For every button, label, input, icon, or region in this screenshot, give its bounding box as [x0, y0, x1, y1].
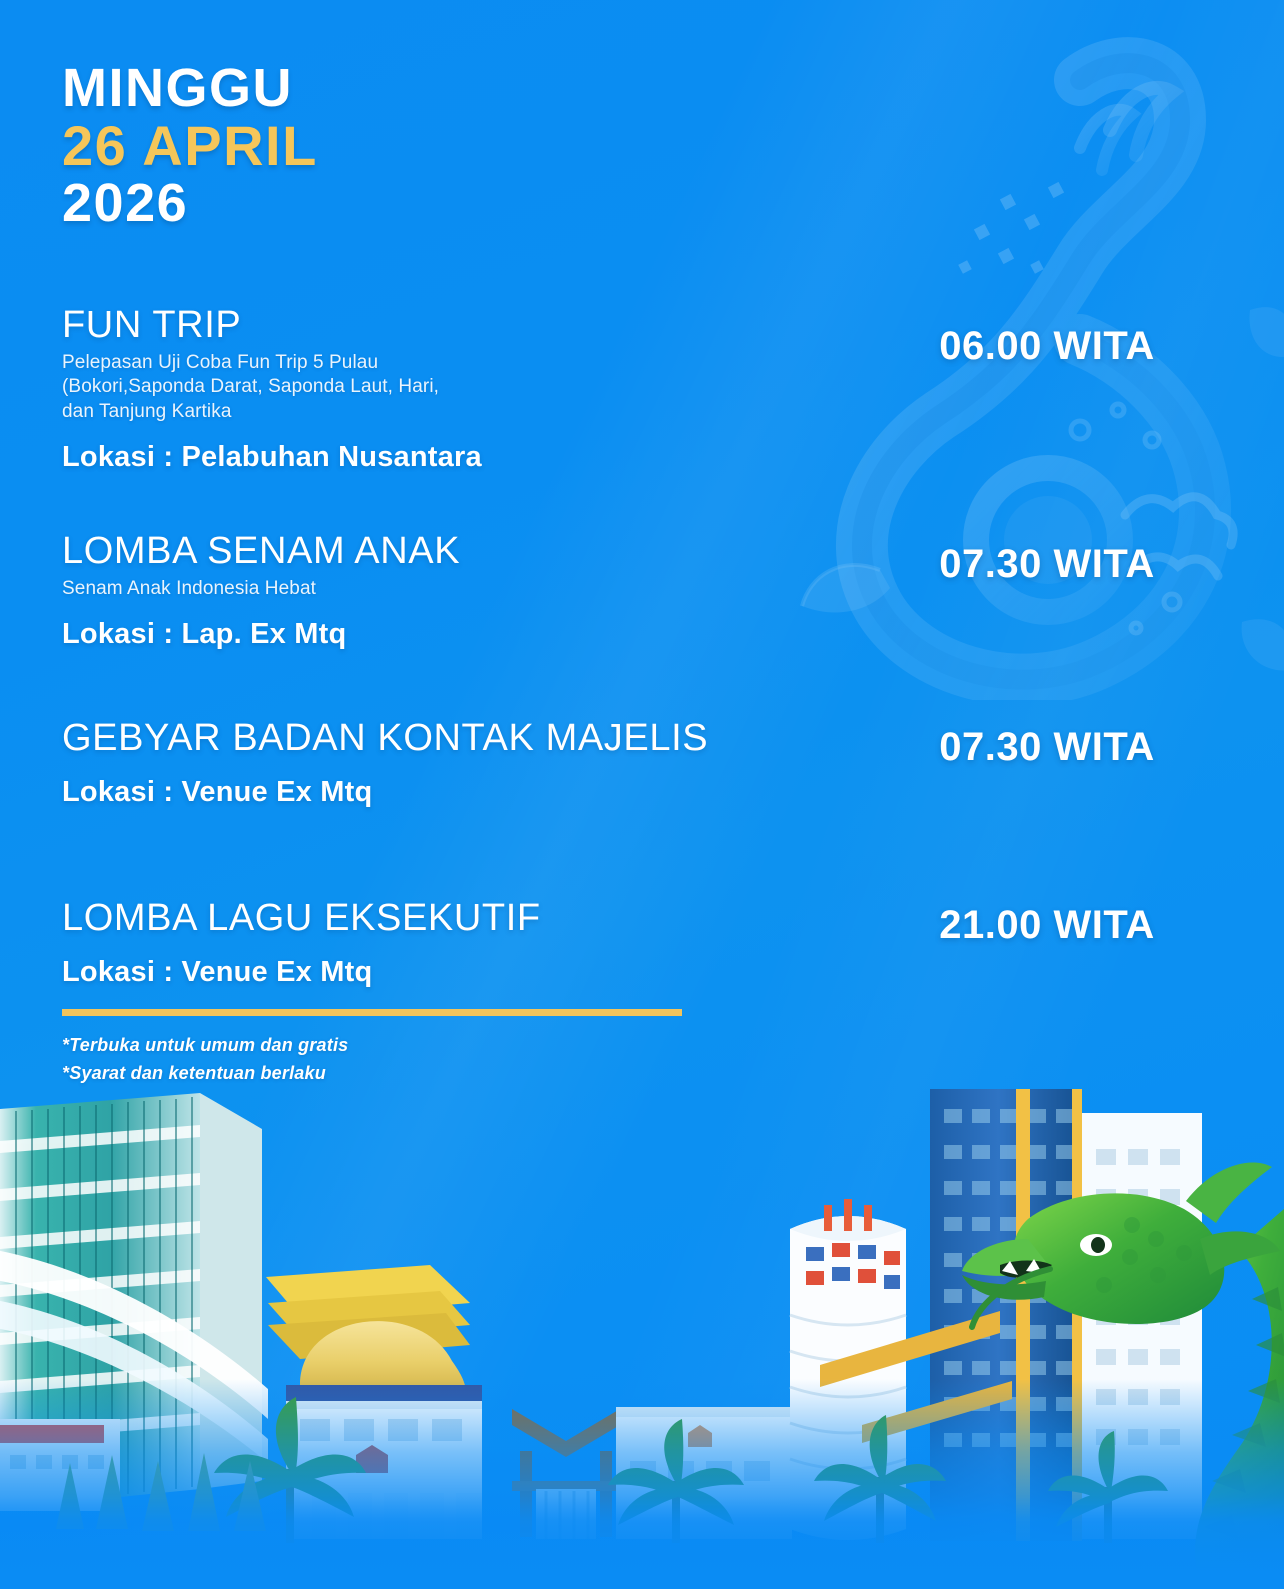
schedule-item: LOMBA SENAM ANAK Senam Anak Indonesia He…	[0, 532, 1284, 651]
event-location: Lokasi : Venue Ex Mtq	[62, 956, 850, 989]
footnotes: *Terbuka untuk umum dan gratis *Syarat d…	[62, 1032, 348, 1088]
schedule-item-details: GEBYAR BADAN KONTAK MAJELIS Lokasi : Ven…	[62, 719, 850, 809]
event-schedule-poster: MINGGU 26 APRIL 2026 FUN TRIP Pelepasan …	[0, 0, 1284, 1589]
event-location: Lokasi : Pelabuhan Nusantara	[62, 441, 850, 474]
event-title: GEBYAR BADAN KONTAK MAJELIS	[62, 719, 850, 759]
event-time: 06.00 WITA	[850, 306, 1244, 369]
footnote-item: *Terbuka untuk umum dan gratis	[62, 1032, 348, 1060]
event-description: Pelepasan Uji Coba Fun Trip 5 Pulau (Bok…	[62, 351, 850, 424]
footnote-item: *Syarat dan ketentuan berlaku	[62, 1060, 348, 1088]
event-description-line: Senam Anak Indonesia Hebat	[62, 577, 850, 601]
schedule-item: FUN TRIP Pelepasan Uji Coba Fun Trip 5 P…	[0, 306, 1284, 474]
schedule-item: GEBYAR BADAN KONTAK MAJELIS Lokasi : Ven…	[0, 719, 1284, 809]
event-description-line: dan Tanjung Kartika	[62, 400, 850, 424]
poster-date-header: MINGGU 26 APRIL 2026	[62, 62, 318, 230]
event-description: Senam Anak Indonesia Hebat	[62, 577, 850, 601]
section-divider	[62, 1009, 682, 1016]
cityscape-illustration	[0, 1089, 1284, 1589]
event-location: Lokasi : Venue Ex Mtq	[62, 776, 850, 809]
schedule-item-details: LOMBA LAGU EKSEKUTIF Lokasi : Venue Ex M…	[62, 899, 850, 989]
schedule-item-details: FUN TRIP Pelepasan Uji Coba Fun Trip 5 P…	[62, 306, 850, 474]
event-time: 07.30 WITA	[850, 532, 1244, 587]
event-location: Lokasi : Lap. Ex Mtq	[62, 618, 850, 651]
header-date: 26 APRIL	[62, 119, 318, 174]
event-description-line: Pelepasan Uji Coba Fun Trip 5 Pulau	[62, 351, 850, 375]
schedule-item: LOMBA LAGU EKSEKUTIF Lokasi : Venue Ex M…	[0, 899, 1284, 989]
event-description-line: (Bokori,Saponda Darat, Saponda Laut, Har…	[62, 375, 850, 399]
dragon-statue	[962, 1162, 1284, 1589]
event-time: 07.30 WITA	[850, 719, 1244, 770]
event-title: LOMBA LAGU EKSEKUTIF	[62, 899, 850, 939]
header-day: MINGGU	[62, 62, 318, 115]
schedule-list: FUN TRIP Pelepasan Uji Coba Fun Trip 5 P…	[0, 306, 1284, 989]
event-title: FUN TRIP	[62, 306, 850, 346]
cityscape-bottom-fade	[0, 1379, 1284, 1589]
event-time: 21.00 WITA	[850, 899, 1244, 948]
schedule-item-details: LOMBA SENAM ANAK Senam Anak Indonesia He…	[62, 532, 850, 651]
event-title: LOMBA SENAM ANAK	[62, 532, 850, 572]
header-year: 2026	[62, 177, 318, 230]
